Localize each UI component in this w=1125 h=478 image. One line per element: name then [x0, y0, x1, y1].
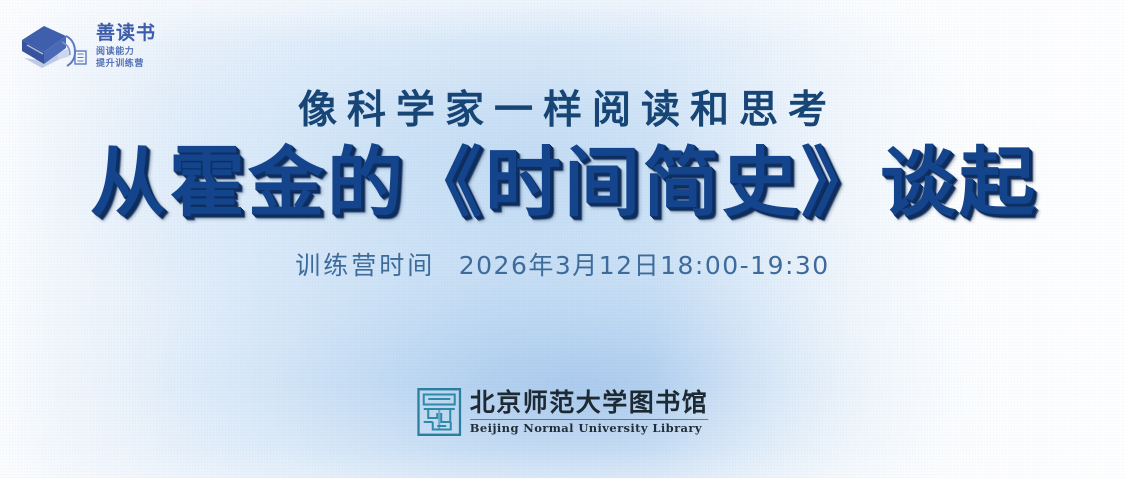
poster-subtitle: 像科学家一样阅读和思考	[0, 88, 1125, 134]
library-divider	[470, 419, 709, 420]
headline-block: 像科学家一样阅读和思考 从霍金的《时间简史》谈起 训练营时间 2026年3月12…	[0, 88, 1125, 282]
poster-main-title: 从霍金的《时间简史》谈起	[0, 142, 1125, 224]
camp-logo-sub-line-2: 提升训练营	[96, 58, 144, 70]
maze-seal-icon	[417, 388, 461, 436]
camp-logo-sub-line-1: 阅读能力	[96, 46, 134, 58]
camp-logo: 善读书 阅读能力 提升训练营	[18, 18, 156, 76]
library-wordmark: 北京师范大学图书馆 Beijing Normal University Libr…	[470, 389, 709, 435]
library-name-en: Beijing Normal University Library	[470, 422, 702, 435]
camp-logo-main-text: 善读书	[96, 24, 156, 44]
library-logo-lockup: 北京师范大学图书馆 Beijing Normal University Libr…	[417, 388, 709, 436]
camp-logo-wordmark: 善读书 阅读能力 提升训练营	[96, 18, 156, 70]
schedule-label: 训练营时间	[295, 251, 435, 280]
schedule-value: 2026年3月12日18:00-19:30	[459, 251, 830, 280]
open-book-icon	[18, 18, 92, 76]
event-poster-banner: 善读书 阅读能力 提升训练营 像科学家一样阅读和思考 从霍金的《时间简史》谈起 …	[0, 0, 1125, 478]
schedule-line: 训练营时间 2026年3月12日18:00-19:30	[0, 246, 1125, 282]
library-name-cn: 北京师范大学图书馆	[470, 389, 709, 417]
